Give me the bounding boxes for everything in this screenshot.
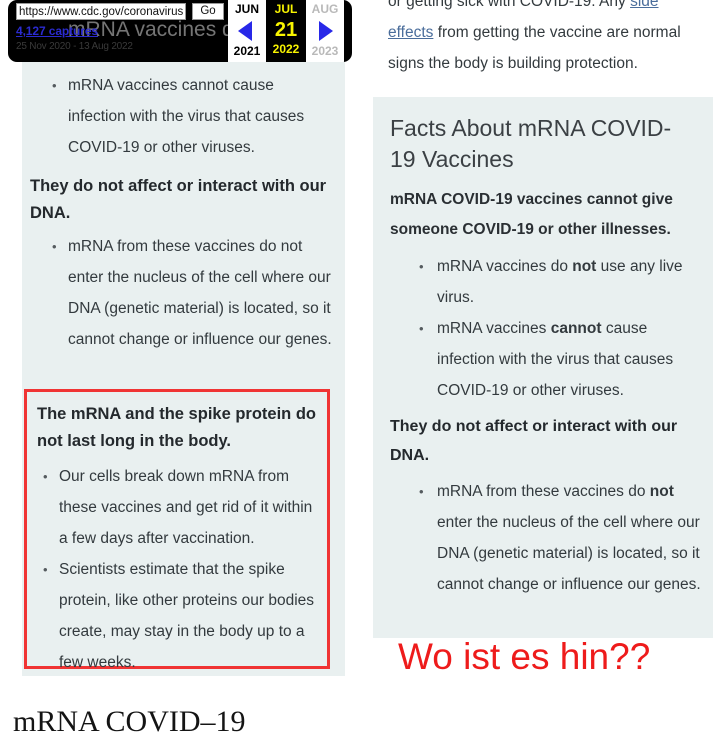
red-highlight-box: The mRNA and the spike protein do not la…	[24, 389, 330, 669]
arrow-right-icon[interactable]	[319, 21, 333, 41]
intro-clipped-text: or getting sick with COVID-19. Any	[388, 0, 630, 10]
arrow-left-icon[interactable]	[238, 21, 252, 41]
previous-year-label: 2021	[228, 44, 266, 58]
left-bullets-top: mRNA vaccines cannot cause infection wit…	[22, 70, 345, 163]
bullet-emphasis: not	[650, 483, 674, 500]
bullet-pre: mRNA vaccines do	[437, 258, 572, 275]
next-year-label: 2023	[306, 44, 344, 58]
wayback-date-navigator: JUN 2021 JUL 21 2022 AUG 2023 ✕ ▼	[228, 0, 344, 62]
bullet-post: enter the nucleus of the cell where our …	[437, 514, 701, 593]
right-lead-paragraph: mRNA COVID-19 vaccines cannot give someo…	[373, 185, 713, 245]
url-input[interactable]: https://www.cdc.gov/coronavirus	[16, 3, 186, 20]
red-box-heading: The mRNA and the spike protein do not la…	[37, 401, 319, 455]
list-item: mRNA vaccines cannot cause infection wit…	[411, 313, 713, 406]
right-heading-dna: They do not affect or interact with our …	[373, 406, 713, 470]
current-day-label: 21	[266, 18, 306, 42]
previous-month-column[interactable]: JUN 2021	[228, 0, 266, 62]
current-year-label: 2022	[266, 42, 306, 56]
wayback-url-area: https://www.cdc.gov/coronavirus Go 4,127…	[16, 3, 224, 52]
right-facts-box: Facts About mRNA COVID-19 Vaccines mRNA …	[373, 97, 713, 638]
previous-month-label: JUN	[228, 0, 266, 18]
right-bullets-dna: mRNA from these vaccines do not enter th…	[373, 476, 713, 600]
next-month-label: AUG	[306, 0, 344, 18]
list-item: Our cells break down mRNA from these vac…	[35, 461, 319, 554]
previous-arrow-slot[interactable]	[228, 18, 266, 44]
bottom-caption: mRNA COVID–19	[13, 705, 246, 739]
list-item: mRNA from these vaccines do not enter th…	[411, 476, 713, 600]
list-item: mRNA vaccines cannot cause infection wit…	[44, 70, 331, 163]
wayback-machine-toolbar: mRNA vaccines do not https://www.cdc.gov…	[8, 0, 352, 62]
list-item: mRNA from these vaccines do not enter th…	[44, 231, 337, 355]
german-annotation-overlay: Wo ist es hin??	[398, 636, 650, 678]
left-heading-dna: They do not affect or interact with our …	[30, 173, 345, 227]
list-item: mRNA vaccines do not use any live virus.	[411, 251, 713, 313]
bullet-pre: mRNA vaccines	[437, 320, 551, 337]
left-bullets-dna: mRNA from these vaccines do not enter th…	[22, 231, 345, 355]
bullet-pre: mRNA from these vaccines do	[437, 483, 650, 500]
right-screenshot-column: or getting sick with COVID-19. Any side …	[365, 0, 713, 750]
page-title: Facts About mRNA COVID-19 Vaccines	[373, 113, 713, 175]
captures-count-link[interactable]: 4,127 captures	[16, 24, 224, 38]
current-capture-column[interactable]: JUL 21 2022	[266, 0, 306, 62]
capture-date-range: 25 Nov 2020 - 13 Aug 2022	[16, 41, 224, 52]
red-box-bullets: Our cells break down mRNA from these vac…	[35, 461, 319, 678]
right-bullets-lead: mRNA vaccines do not use any live virus.…	[373, 251, 713, 406]
list-item: Scientists estimate that the spike prote…	[35, 554, 319, 678]
bullet-emphasis: not	[572, 258, 596, 275]
left-screenshot-column: mRNA vaccines do not https://www.cdc.gov…	[0, 0, 356, 750]
right-intro-paragraph: or getting sick with COVID-19. Any side …	[388, 0, 706, 96]
current-month-label: JUL	[266, 0, 306, 18]
next-arrow-slot[interactable]	[306, 18, 344, 44]
go-button[interactable]: Go	[192, 3, 224, 20]
wayback-url-row: https://www.cdc.gov/coronavirus Go	[16, 3, 224, 20]
bullet-emphasis: cannot	[551, 320, 602, 337]
next-month-column[interactable]: AUG 2023	[306, 0, 344, 62]
